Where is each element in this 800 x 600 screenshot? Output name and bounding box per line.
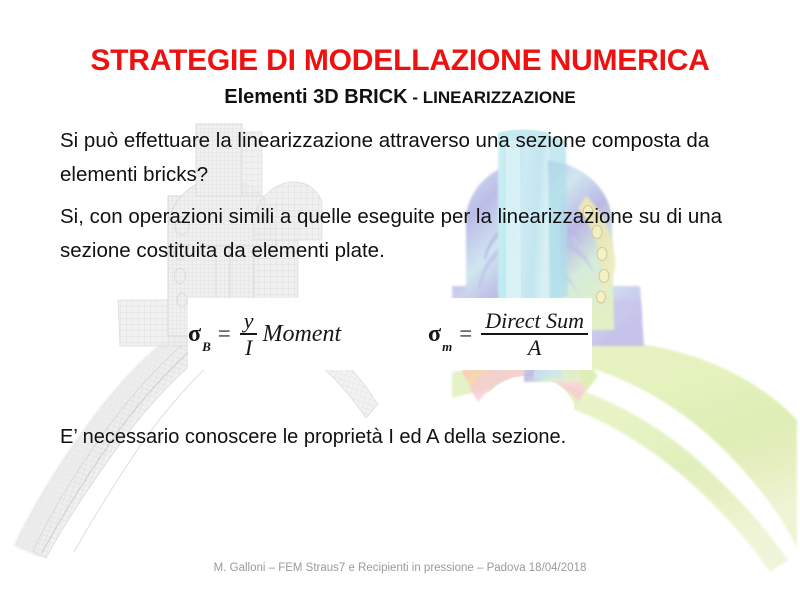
sigma-symbol: σ xyxy=(188,321,201,348)
equals-sign: = xyxy=(218,321,231,347)
presentation-slide: STRATEGIE DI MODELLAZIONE NUMERICA Eleme… xyxy=(0,0,800,600)
body-paragraph-answer: Si, con operazioni simili a quelle esegu… xyxy=(60,200,750,268)
fraction-direct-sum-over-a: Direct Sum A xyxy=(481,309,588,359)
fraction-y-over-i: y I xyxy=(240,309,258,359)
body-paragraph-conclusion: E’ necessario conoscere le proprietà I e… xyxy=(60,420,750,454)
subtitle-rest: - LINEARIZZAZIONE xyxy=(408,88,576,107)
sigma-subscript-m: m xyxy=(442,339,452,359)
slide-subtitle: Elementi 3D BRICK - LINEARIZZAZIONE xyxy=(0,86,800,109)
body-paragraph-question: Si può effettuare la linearizzazione att… xyxy=(60,124,750,192)
slide-footer: M. Galloni – FEM Straus7 e Recipienti in… xyxy=(0,562,800,574)
sigma-symbol: σ xyxy=(428,321,441,348)
equals-sign: = xyxy=(459,321,472,347)
formula-trailing-term: Moment xyxy=(262,321,341,348)
formula-bending-stress: σB = y I Moment xyxy=(188,309,341,359)
fraction-denominator: A xyxy=(524,335,545,359)
fraction-numerator: y xyxy=(240,309,258,333)
subtitle-main: Elementi 3D BRICK xyxy=(224,86,407,108)
formula-row: σB = y I Moment σm = Direct Sum A xyxy=(188,298,592,370)
formula-membrane-stress: σm = Direct Sum A xyxy=(428,309,590,359)
fraction-denominator: I xyxy=(241,335,256,359)
slide-title: STRATEGIE DI MODELLAZIONE NUMERICA xyxy=(0,44,800,78)
fraction-numerator: Direct Sum xyxy=(481,309,588,333)
sigma-subscript-b: B xyxy=(202,339,211,359)
